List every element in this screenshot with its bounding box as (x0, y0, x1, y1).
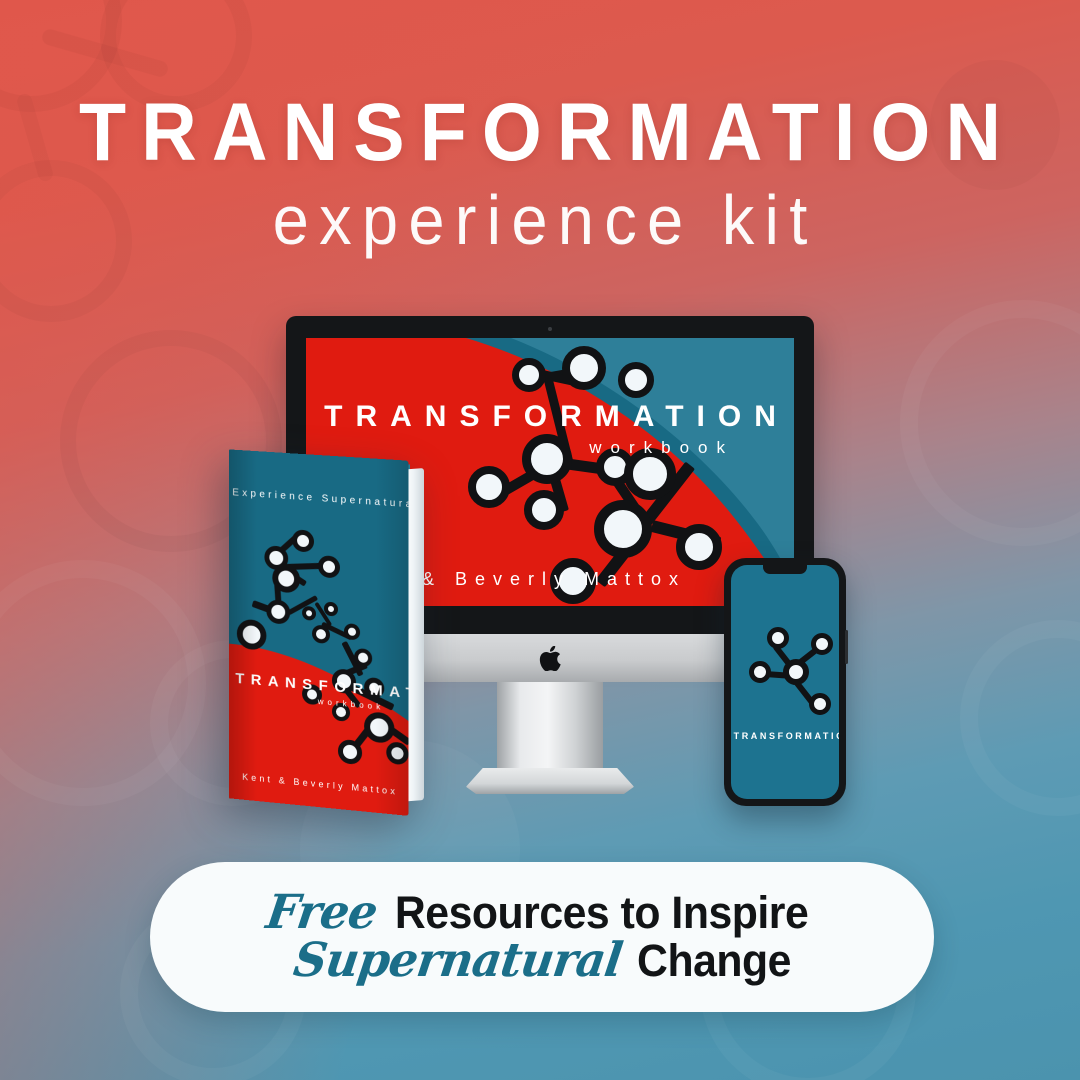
banner-script-free: Free (263, 889, 380, 937)
phone-mockup: TRANSFORMATION (724, 558, 846, 806)
banner-line-2: SupernaturalChange (265, 937, 819, 985)
imac-stand-foot (466, 768, 634, 794)
cta-banner[interactable]: FreeResources to Inspire SupernaturalCha… (150, 862, 934, 1012)
banner-bold-resources: Resources to Inspire (395, 890, 808, 936)
book-mockup: Experience Supernatural Change TRANSFORM… (222, 455, 444, 810)
banner-bold-change: Change (637, 938, 791, 984)
phone-screen-title: TRANSFORMATION (731, 731, 839, 741)
phone-notch (763, 565, 807, 574)
imac-stand-neck (497, 682, 603, 774)
book-cover-shading (229, 449, 409, 815)
apple-logo-icon (539, 646, 561, 671)
page-subtitle: experience kit (38, 185, 1042, 255)
phone-screen: TRANSFORMATION (731, 565, 839, 799)
webcam-icon (548, 327, 552, 331)
banner-script-supernatural: Supernatural (291, 937, 625, 985)
book-front-cover: Experience Supernatural Change TRANSFORM… (229, 449, 409, 815)
banner-line-1: FreeResources to Inspire (265, 889, 819, 937)
promo-graphic: TRANSFORMATION experience kit (0, 0, 1080, 1080)
imac-screen-title: TRANSFORMATION (306, 400, 794, 434)
page-title: TRANSFORMATION (32, 92, 1047, 174)
phone-power-button (845, 630, 848, 664)
